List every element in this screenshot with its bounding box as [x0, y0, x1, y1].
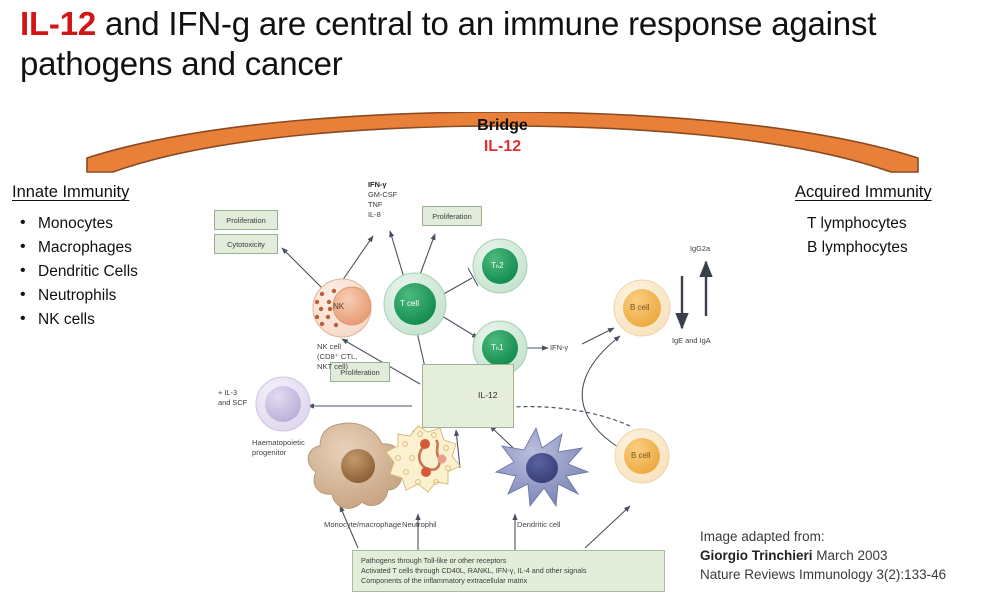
list-item: •NK cells [12, 308, 212, 332]
acquired-list: T lymphocytes B lymphocytes [795, 212, 995, 260]
il12-box [422, 364, 514, 428]
il3-scf-label-2: and SCF [218, 398, 247, 407]
title-rest: and IFN-g are central to an immune respo… [20, 5, 876, 82]
page-title: IL-12 and IFN-g are central to an immune… [20, 4, 985, 84]
bridge-sublabel: IL-12 [85, 138, 920, 156]
innate-list: •Monocytes •Macrophages •Dendritic Cells… [12, 212, 212, 332]
immune-pathway-diagram: IL-12 Proliferation Cytotoxicity Prolife… [190, 176, 750, 586]
bullet-icon: • [20, 235, 26, 259]
progenitor-caption-2: progenitor [252, 448, 286, 457]
th2-cell-text: Tₕ2 [491, 261, 504, 270]
innate-item-1: Macrophages [38, 239, 132, 256]
t-cell-text: T cell [400, 299, 419, 308]
bridge-arc: Bridge IL-12 [85, 112, 920, 174]
dendritic-cell-graphic [496, 428, 588, 506]
nk-cell-caption-3: NKT cell) [317, 362, 348, 371]
neutrophil-caption: Neutrophil [402, 520, 437, 529]
proliferation-box-nk: Proliferation [214, 210, 278, 230]
acquired-immunity-panel: Acquired Immunity T lymphocytes B lympho… [795, 183, 995, 260]
monocyte-caption: Monocyte/macrophage [324, 520, 401, 529]
list-item: •Monocytes [12, 212, 212, 236]
innate-heading: Innate Immunity [12, 183, 212, 202]
progenitor-caption-1: Haematopoietic [252, 438, 305, 447]
proliferation-box-tcell: Proliferation [422, 206, 482, 226]
il8-label: IL-8 [368, 210, 381, 219]
igg2a-label: IgG2a [690, 244, 710, 253]
nk-cell-caption-1: NK cell [317, 342, 341, 351]
innate-item-2: Dendritic Cells [38, 263, 138, 280]
il12-box-label: IL-12 [478, 390, 498, 400]
innate-immunity-panel: Innate Immunity •Monocytes •Macrophages … [12, 183, 212, 332]
nk-cell-caption-2: (CD8⁺ CTL, [317, 352, 357, 361]
list-item: •Neutrophils [12, 284, 212, 308]
title-accent: IL-12 [20, 5, 96, 42]
b-cell-bottom-text: B cell [631, 451, 651, 460]
list-item: •Macrophages [12, 236, 212, 260]
tnf-label: TNF [368, 200, 382, 209]
bullet-icon: • [20, 307, 26, 331]
nk-cell-text: NK [333, 302, 344, 311]
b-cell-top-text: B cell [630, 303, 650, 312]
ifng-label: IFN-γ [368, 180, 386, 189]
stimulus-line-0: Pathogens through Toll-like or other rec… [361, 556, 656, 566]
cytotoxicity-box: Cytotoxicity [214, 234, 278, 254]
acquired-item-0: T lymphocytes [795, 212, 995, 236]
innate-item-0: Monocytes [38, 215, 113, 232]
bridge-label: Bridge [85, 117, 920, 135]
stimulus-line-2: Components of the inflammatory extracell… [361, 576, 656, 586]
th1-cell-text: Tₕ1 [491, 343, 504, 352]
innate-item-4: NK cells [38, 311, 95, 328]
monocyte-macrophage-graphic [308, 423, 402, 508]
bullet-icon: • [20, 211, 26, 235]
ifng-th1-label: IFN-γ [550, 343, 568, 352]
bullet-icon: • [20, 283, 26, 307]
innate-item-3: Neutrophils [38, 287, 116, 304]
citation-date: March 2003 [813, 548, 888, 563]
haematopoietic-progenitor-graphic [256, 377, 310, 431]
acquired-heading: Acquired Immunity [795, 183, 995, 202]
stimulus-line-1: Activated T cells through CD40L, RANKL, … [361, 566, 656, 576]
ige-iga-label: IgE and IgA [672, 336, 711, 345]
il3-scf-label-1: + IL-3 [218, 388, 237, 397]
acquired-item-1: B lymphocytes [795, 236, 995, 260]
list-item: •Dendritic Cells [12, 260, 212, 284]
gmcsf-label: GM-CSF [368, 190, 397, 199]
dendritic-caption: Dendritic cell [517, 520, 560, 529]
bullet-icon: • [20, 259, 26, 283]
stimulus-box: Pathogens through Toll-like or other rec… [352, 550, 665, 592]
